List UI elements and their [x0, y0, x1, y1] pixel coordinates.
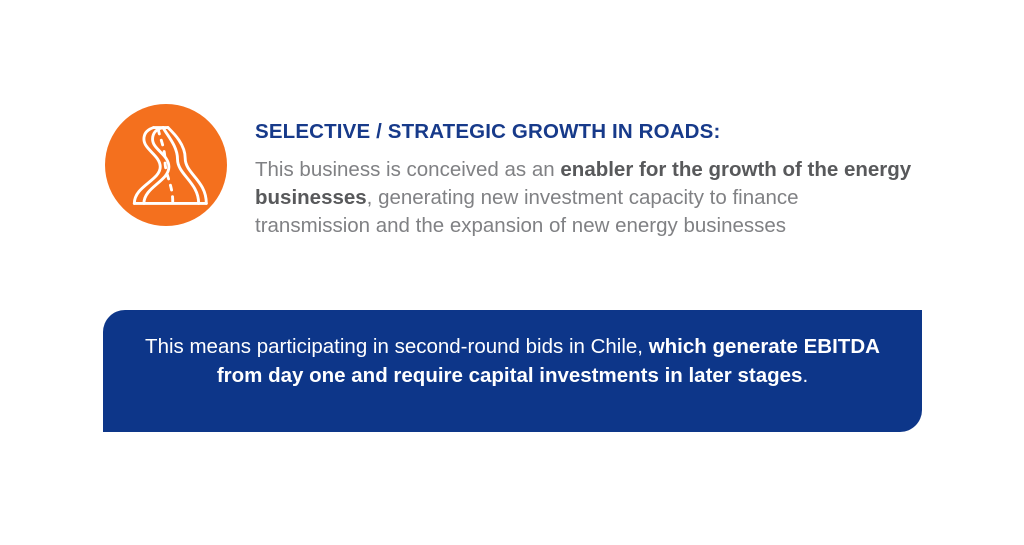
slide-canvas: SELECTIVE / STRATEGIC GROWTH IN ROADS: T…	[0, 0, 1024, 545]
callout-lead: This means participating in second-round…	[145, 335, 649, 358]
winding-road-glyph	[118, 117, 214, 213]
callout-tail: .	[802, 364, 808, 387]
callout-box: This means participating in second-round…	[103, 310, 922, 432]
body-paragraph: This business is conceived as an enabler…	[255, 156, 915, 240]
body-lead: This business is conceived as an	[255, 158, 560, 181]
callout-text: This means participating in second-round…	[137, 332, 888, 390]
text-column: SELECTIVE / STRATEGIC GROWTH IN ROADS: T…	[227, 104, 925, 240]
roads-highlight-block: SELECTIVE / STRATEGIC GROWTH IN ROADS: T…	[105, 104, 925, 240]
winding-road-icon	[105, 104, 227, 226]
page-title: SELECTIVE / STRATEGIC GROWTH IN ROADS:	[255, 120, 925, 145]
